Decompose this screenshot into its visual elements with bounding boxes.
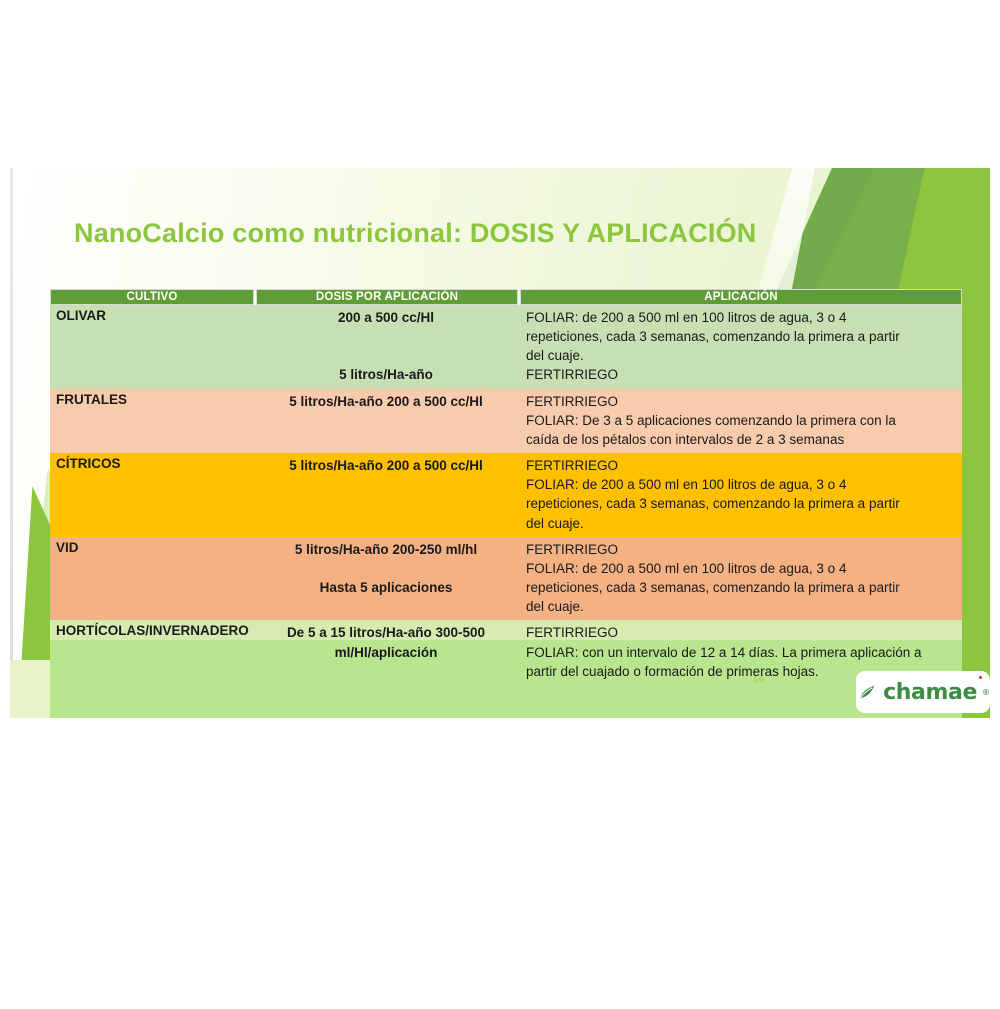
table-row-last: HORTÍCOLAS/INVERNADERO De 5 a 15 litros/… [50,620,962,718]
cell-cultivo: VID [50,537,254,621]
dosis-line: 5 litros/Ha-año [339,367,433,382]
aplicacion-line: partir del cuajado o formación de primer… [526,662,956,681]
aplicacion-line: FERTIRRIEGO [526,623,956,642]
aplicacion-line: repeticiones, cada 3 semanas, comenzando… [526,494,956,513]
dosis-line: De 5 a 15 litros/Ha-año [287,625,432,640]
dosis-line: 5 litros/Ha-año [295,542,389,557]
cell-dosis: 5 litros/Ha-año 200 a 500 cc/Hl [254,453,518,537]
logo-accent-dot [979,676,982,679]
table-row: FRUTALES 5 litros/Ha-año 200 a 500 cc/Hl… [50,389,962,453]
cell-aplicacion: FERTIRRIEGO FOLIAR: con un intervalo de … [518,620,962,718]
cell-cultivo: FRUTALES [50,389,254,453]
slide-left-border [10,168,13,718]
dosis-line: Hasta 5 aplicaciones [320,580,453,595]
dosage-table: CULTIVO DOSIS POR APLICACIÓN APLICACIÓN … [50,289,962,718]
dosis-spacer [260,662,512,681]
cell-dosis: 5 litros/Ha-año 200-250 ml/hl Hasta 5 ap… [254,537,518,621]
cell-dosis: 200 a 500 cc/Hl 5 litros/Ha-año [254,305,518,389]
table-header-cultivo: CULTIVO [50,289,254,305]
dosis-spacer [260,494,512,513]
aplicacion-line: repeticiones, cada 3 semanas, comenzando… [526,578,956,597]
dosis-spacer [260,327,512,346]
table-row: OLIVAR 200 a 500 cc/Hl 5 litros/Ha-año F… [50,305,962,389]
dosis-line: 200 a 500 cc/Hl [338,310,434,325]
cell-aplicacion: FERTIRRIEGO FOLIAR: de 200 a 500 ml en 1… [518,537,962,621]
cell-aplicacion: FERTIRRIEGO FOLIAR: de 200 a 500 ml en 1… [518,453,962,537]
table-header-dosis: DOSIS POR APLICACIÓN [256,289,518,305]
aplicacion-line: FERTIRRIEGO [526,365,956,384]
aplicacion-line: caída de los pétalos con intervalos de 2… [526,430,956,449]
aplicacion-line: repeticiones, cada 3 semanas, comenzando… [526,327,956,346]
decor-right-green-band [962,168,990,718]
aplicacion-line: FOLIAR: con un intervalo de 12 a 14 días… [526,643,956,662]
dosis-line: 200-250 ml/hl [392,542,477,557]
presentation-slide: NanoCalcio como nutricional: DOSIS Y APL… [10,168,990,718]
table-row: HORTÍCOLAS/INVERNADERO De 5 a 15 litros/… [50,620,962,718]
dosis-spacer [260,681,512,700]
dosis-line: 5 litros/Ha-año [289,394,383,409]
cell-dosis: 5 litros/Ha-año 200 a 500 cc/Hl [254,389,518,453]
cell-cultivo: OLIVAR [50,305,254,389]
aplicacion-line: FOLIAR: De 3 a 5 aplicaciones comenzando… [526,411,956,430]
aplicacion-spacer [526,681,956,700]
aplicacion-line: FOLIAR: de 200 a 500 ml en 100 litros de… [526,308,956,327]
aplicacion-line: del cuaje. [526,514,956,533]
screenshot-canvas: NanoCalcio como nutricional: DOSIS Y APL… [0,0,1000,1009]
dosis-line: 200 a 500 cc/Hl [387,458,483,473]
aplicacion-line: FERTIRRIEGO [526,456,956,475]
dosis-line: 5 litros/Ha-año [289,458,383,473]
slide-title: NanoCalcio como nutricional: DOSIS Y APL… [74,218,757,249]
table-row: VID 5 litros/Ha-año 200-250 ml/hl Hasta … [50,537,962,621]
dosis-line: 200 a 500 cc/Hl [387,394,483,409]
aplicacion-line: FOLIAR: de 200 a 500 ml en 100 litros de… [526,475,956,494]
cell-aplicacion: FERTIRRIEGO FOLIAR: De 3 a 5 aplicacione… [518,389,962,453]
aplicacion-line: FERTIRRIEGO [526,540,956,559]
aplicacion-spacer [526,700,956,718]
dosis-spacer [260,559,512,578]
cell-cultivo: CÍTRICOS [50,453,254,537]
aplicacion-line: FOLIAR: de 200 a 500 ml en 100 litros de… [526,559,956,578]
cell-aplicacion: FOLIAR: de 200 a 500 ml en 100 litros de… [518,305,962,389]
cell-cultivo: HORTÍCOLAS/INVERNADERO [50,620,254,718]
table-row: CÍTRICOS 5 litros/Ha-año 200 a 500 cc/Hl… [50,453,962,537]
aplicacion-line: del cuaje. [526,346,956,365]
cell-dosis: De 5 a 15 litros/Ha-año 300-500 ml/Hl/ap… [254,620,518,718]
aplicacion-line: del cuaje. [526,597,956,616]
table-header-row: CULTIVO DOSIS POR APLICACIÓN APLICACIÓN [50,289,962,305]
table-header-aplicacion: APLICACIÓN [520,289,962,305]
dosis-spacer [260,346,512,365]
registered-trademark-icon: ® [983,688,989,697]
dosis-spacer [260,475,512,494]
aplicacion-line: FERTIRRIEGO [526,392,956,411]
